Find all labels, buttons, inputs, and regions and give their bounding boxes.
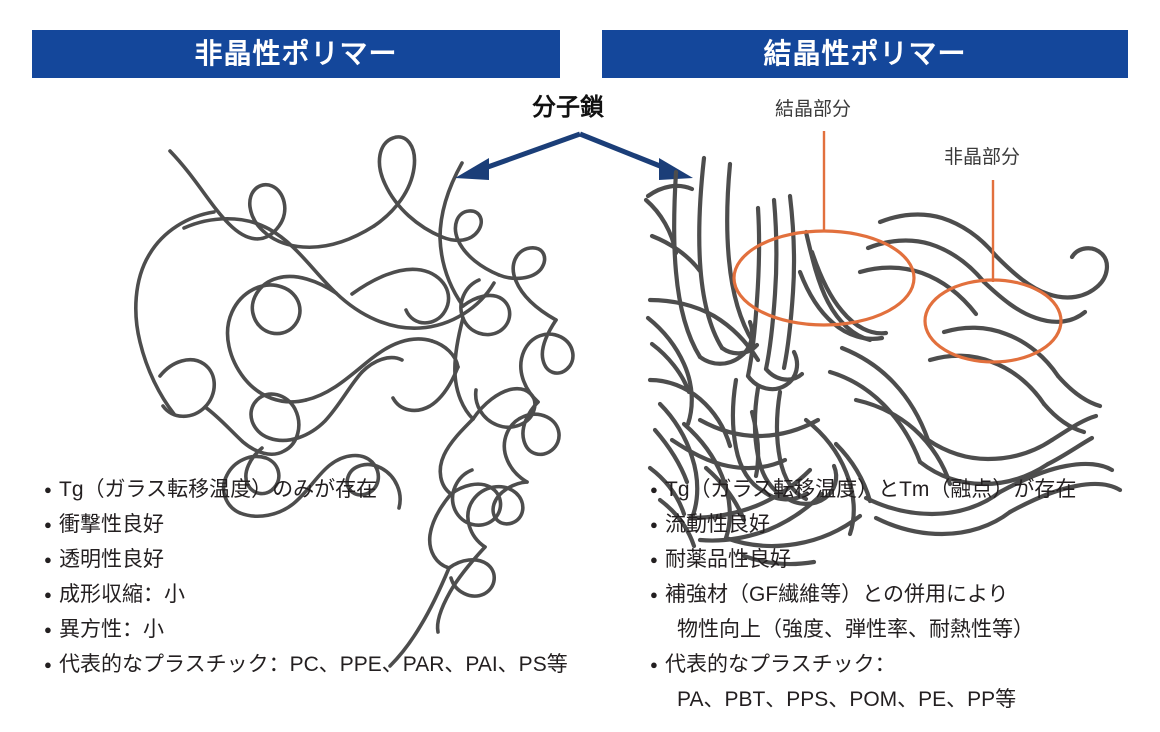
feature-list-amorphous: Tg（ガラス転移温度）のみが存在 衝撃性良好 透明性良好 成形収縮：小 異方性：…: [44, 472, 604, 682]
list-item-continuation: PA、PBT、PPS、POM、PE、PP等: [650, 682, 1150, 717]
amorphous-region-marker: [925, 180, 1061, 362]
list-item: Tg（ガラス転移温度）とTm（融点）が存在: [650, 472, 1150, 507]
header-bar-amorphous: 非晶性ポリマー: [32, 30, 560, 78]
page-title-amorphous: 非晶性ポリマー: [194, 40, 397, 68]
header-bar-crystalline: 結晶性ポリマー: [602, 30, 1128, 78]
list-item: 透明性良好: [44, 542, 604, 577]
list-item: 成形収縮：小: [44, 577, 604, 612]
list-item: 補強材（GF繊維等）との併用により: [650, 577, 1150, 612]
feature-list-crystalline: Tg（ガラス転移温度）とTm（融点）が存在 流動性良好 耐薬品性良好 補強材（G…: [650, 472, 1150, 717]
list-item: 流動性良好: [650, 507, 1150, 542]
callout-label-amorphous-region: 非晶部分: [944, 148, 1020, 167]
list-item-continuation: 物性向上（強度、弾性率、耐熱性等）: [650, 612, 1150, 647]
list-item: 耐薬品性良好: [650, 542, 1150, 577]
list-item: 衝撃性良好: [44, 507, 604, 542]
callout-label-crystalline-region: 結晶部分: [775, 100, 851, 119]
list-item: Tg（ガラス転移温度）のみが存在: [44, 472, 604, 507]
crystalline-region-marker: [734, 131, 914, 325]
list-item: 異方性：小: [44, 612, 604, 647]
list-item: 代表的なプラスチック：PC、PPE、PAR、PAI、PS等: [44, 647, 604, 682]
molecular-chain-arrow: [455, 134, 693, 180]
page-title-crystalline: 結晶性ポリマー: [763, 40, 966, 68]
list-item: 代表的なプラスチック：: [650, 647, 1150, 682]
callout-label-molecular-chain: 分子鎖: [532, 96, 604, 120]
